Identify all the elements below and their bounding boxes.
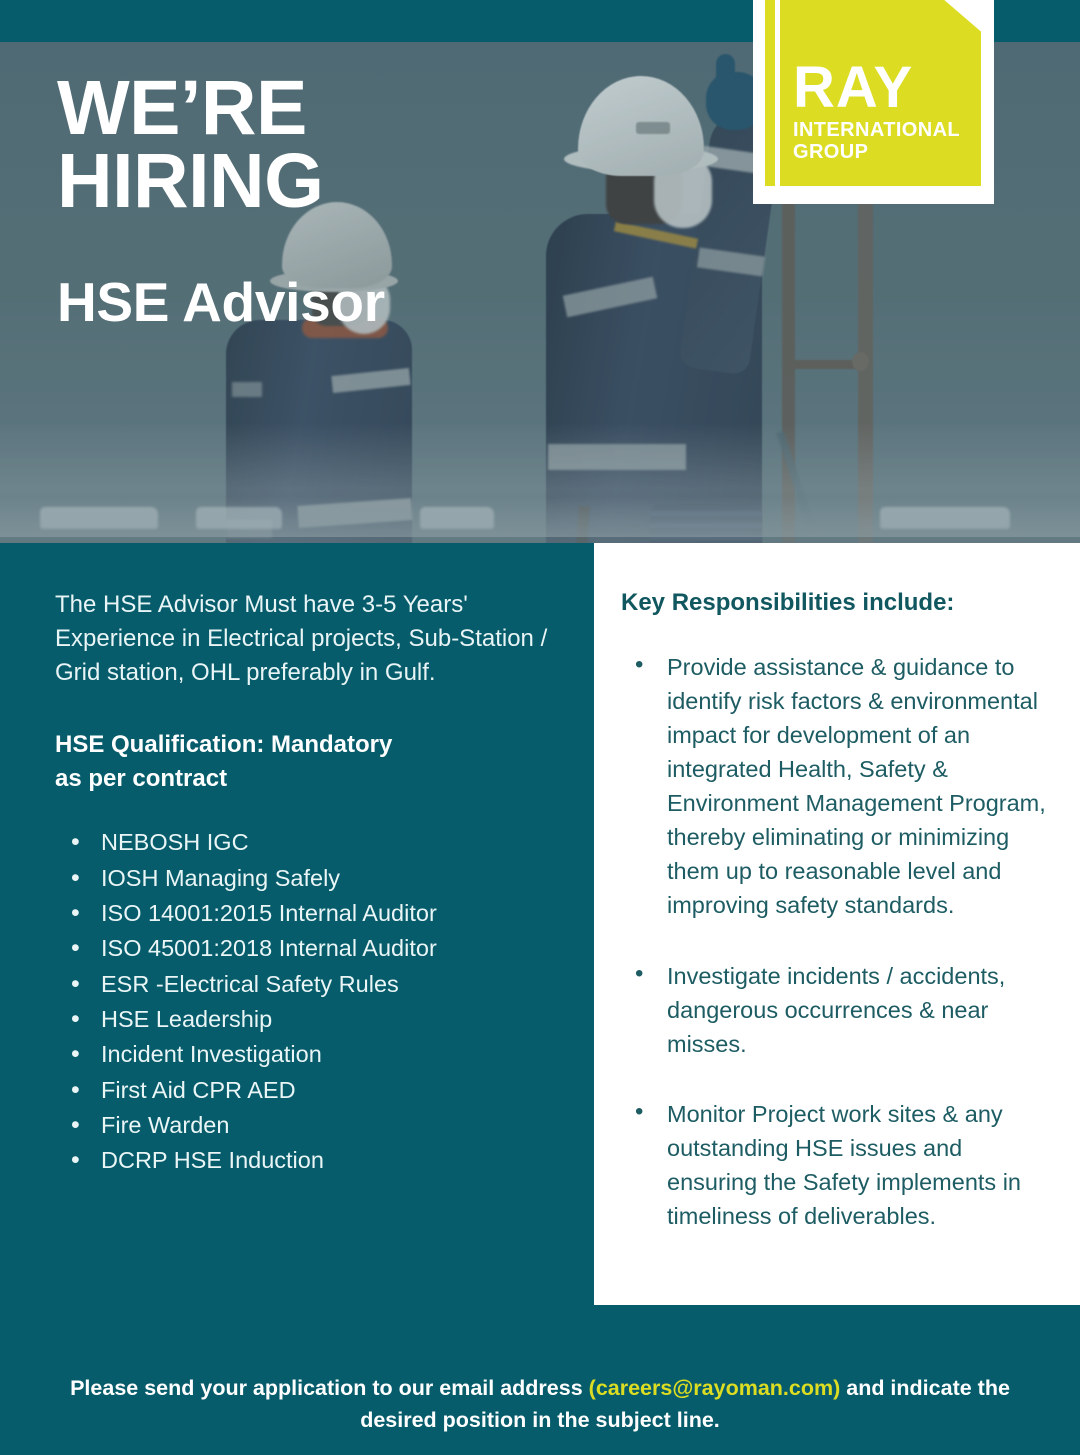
list-item: ESR -Electrical Safety Rules [55, 967, 555, 1001]
logo-white-stripe [775, 0, 780, 186]
headline-line-2: HIRING [57, 145, 385, 218]
list-item: ISO 45001:2018 Internal Auditor [55, 931, 555, 965]
list-item: IOSH Managing Safely [55, 861, 555, 895]
footer-text-before-email: Please send your application to our emai… [70, 1376, 589, 1400]
list-item: Fire Warden [55, 1108, 555, 1142]
requirements-column: The HSE Advisor Must have 3-5 Years' Exp… [55, 588, 555, 1178]
logo-brand-name: RAY [793, 62, 993, 114]
footer-email-link[interactable]: (careers@rayoman.com) [589, 1376, 841, 1400]
list-item: Provide assistance & guidance to identif… [621, 650, 1046, 923]
list-item: HSE Leadership [55, 1002, 555, 1036]
list-item: ISO 14001:2015 Internal Auditor [55, 896, 555, 930]
logo-subtitle-line-2: GROUP [793, 142, 993, 164]
job-role-title: HSE Advisor [57, 270, 385, 334]
intro-paragraph: The HSE Advisor Must have 3-5 Years' Exp… [55, 588, 555, 690]
qualification-heading-line-2: as per contract [55, 762, 555, 796]
qualification-heading-line-1: HSE Qualification: Mandatory [55, 728, 555, 762]
list-item: DCRP HSE Induction [55, 1143, 555, 1177]
job-posting-flyer: WE’RE HIRING HSE Advisor RAY INTERNATION… [0, 0, 1080, 1455]
list-item: Monitor Project work sites & any outstan… [621, 1097, 1046, 1233]
list-item: NEBOSH IGC [55, 825, 555, 859]
list-item: First Aid CPR AED [55, 1073, 555, 1107]
qualification-list: NEBOSH IGC IOSH Managing Safely ISO 1400… [55, 825, 555, 1177]
logo-subtitle-line-1: INTERNATIONAL [793, 120, 993, 142]
responsibilities-card: Key Responsibilities include: Provide as… [594, 543, 1080, 1305]
responsibilities-list: Provide assistance & guidance to identif… [621, 650, 1046, 1233]
hero-headline-block: WE’RE HIRING HSE Advisor [57, 72, 385, 334]
headline-line-1: WE’RE [57, 72, 385, 145]
footer-contact-bar: Please send your application to our emai… [0, 1353, 1080, 1455]
responsibilities-title: Key Responsibilities include: [621, 589, 1046, 617]
company-logo: RAY INTERNATIONAL GROUP [753, 0, 994, 204]
logo-text-block: RAY INTERNATIONAL GROUP [793, 62, 993, 163]
qualification-heading: HSE Qualification: Mandatory as per cont… [55, 728, 555, 795]
body-section: The HSE Advisor Must have 3-5 Years' Exp… [0, 543, 1080, 1353]
list-item: Incident Investigation [55, 1037, 555, 1071]
list-item: Investigate incidents / accidents, dange… [621, 959, 1046, 1061]
footer-instruction: Please send your application to our emai… [60, 1372, 1020, 1437]
